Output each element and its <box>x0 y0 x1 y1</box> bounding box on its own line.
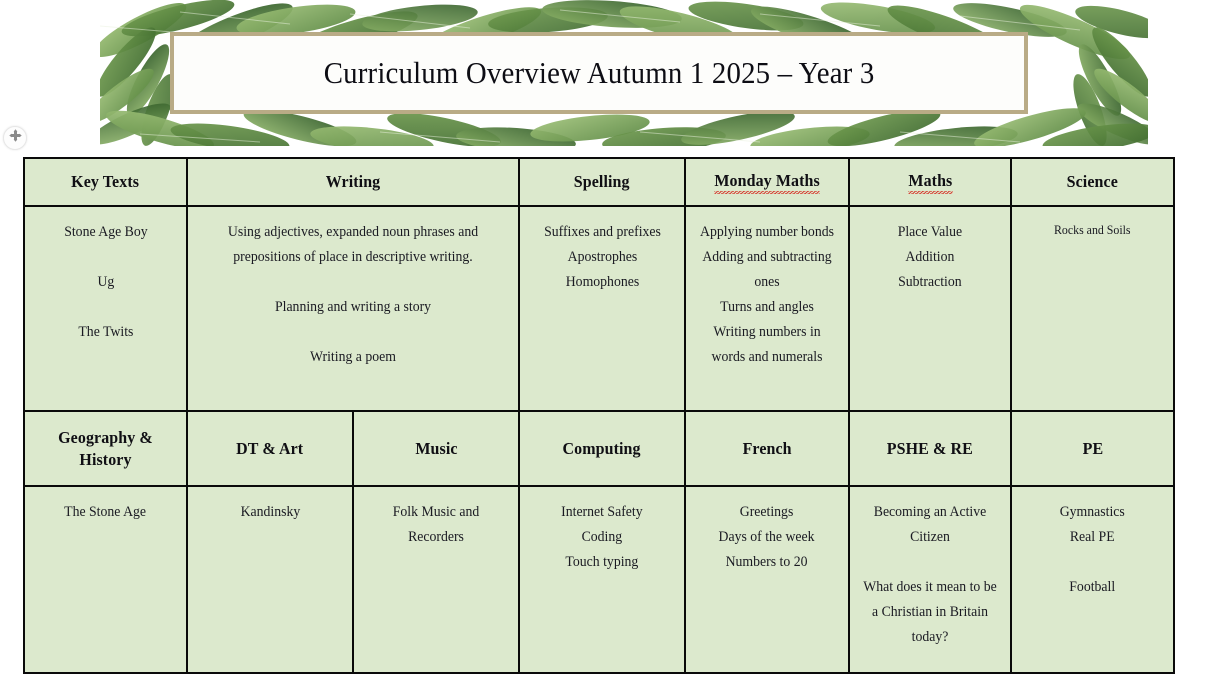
header-cell-spelling: Spelling <box>519 158 685 206</box>
header-cell-dt-art: DT & Art <box>187 411 353 486</box>
cell-content: Becoming an Active Citizen What does it … <box>862 500 999 650</box>
banner: Curriculum Overview Autumn 1 2025 – Year… <box>100 0 1148 146</box>
header-label: Science <box>1067 171 1118 192</box>
cell-pe: Gymnastics Real PE Football <box>1011 486 1174 673</box>
header-cell-maths: Maths <box>849 158 1011 206</box>
cell-computing: Internet Safety Coding Touch typing <box>519 486 685 673</box>
header-label: Monday Maths <box>714 170 819 194</box>
move-handle[interactable] <box>3 126 27 150</box>
cell-content: Kandinsky <box>240 500 300 525</box>
header-label: Geography & History <box>33 427 179 469</box>
page-title: Curriculum Overview Autumn 1 2025 – Year… <box>324 55 875 91</box>
header-label: DT & Art <box>236 438 303 459</box>
move-cross-icon <box>9 129 22 147</box>
table-body-row-1: Stone Age Boy Ug The Twits Using adjecti… <box>24 206 1174 411</box>
cell-content: Rocks and Soils <box>1054 220 1131 241</box>
header-cell-science: Science <box>1011 158 1174 206</box>
cell-content: The Stone Age <box>65 500 147 525</box>
cell-geography-history: The Stone Age <box>24 486 187 673</box>
table-header-row-1: Key Texts Writing Spelling Monday Maths … <box>24 158 1174 206</box>
header-label: Key Texts <box>72 171 140 192</box>
cell-content: Internet Safety Coding Touch typing <box>561 500 642 575</box>
header-cell-music: Music <box>353 411 519 486</box>
cell-french: Greetings Days of the week Numbers to 20 <box>685 486 849 673</box>
header-cell-pshe-re: PSHE & RE <box>849 411 1011 486</box>
header-label: Music <box>415 438 457 459</box>
cell-content: Greetings Days of the week Numbers to 20 <box>719 500 815 575</box>
cell-pshe-re: Becoming an Active Citizen What does it … <box>849 486 1011 673</box>
header-cell-french: French <box>685 411 849 486</box>
cell-key-texts: Stone Age Boy Ug The Twits <box>24 206 187 411</box>
cell-content: Place Value Addition Subtraction <box>898 220 962 295</box>
header-label: French <box>742 438 791 459</box>
header-cell-pe: PE <box>1011 411 1174 486</box>
header-label: Computing <box>563 438 641 459</box>
cell-science: Rocks and Soils <box>1011 206 1174 411</box>
cell-writing: Using adjectives, expanded noun phrases … <box>187 206 519 411</box>
table-body-row-2: The Stone Age Kandinsky Folk Music and R… <box>24 486 1174 673</box>
curriculum-overview-table: Key Texts Writing Spelling Monday Maths … <box>23 157 1175 674</box>
cell-content: Stone Age Boy Ug The Twits <box>64 220 147 345</box>
header-cell-computing: Computing <box>519 411 685 486</box>
cell-content: Folk Music and Recorders <box>366 500 507 550</box>
cell-content: Suffixes and prefixes Apostrophes Homoph… <box>544 220 661 295</box>
cell-content: Gymnastics Real PE Football <box>1060 500 1125 600</box>
cell-spelling: Suffixes and prefixes Apostrophes Homoph… <box>519 206 685 411</box>
header-label: PSHE & RE <box>887 438 973 459</box>
header-label: PE <box>1082 438 1103 459</box>
title-panel: Curriculum Overview Autumn 1 2025 – Year… <box>170 32 1028 114</box>
header-cell-key-texts: Key Texts <box>24 158 187 206</box>
cell-dt-art: Kandinsky <box>187 486 353 673</box>
table-header-row-2: Geography & History DT & Art Music Compu… <box>24 411 1174 486</box>
cell-maths: Place Value Addition Subtraction <box>849 206 1011 411</box>
cell-content: Using adjectives, expanded noun phrases … <box>204 220 502 370</box>
header-cell-geography-history: Geography & History <box>24 411 187 486</box>
header-label: Writing <box>326 171 381 192</box>
header-cell-monday-maths: Monday Maths <box>685 158 849 206</box>
header-cell-writing: Writing <box>187 158 519 206</box>
cell-music: Folk Music and Recorders <box>353 486 519 673</box>
header-label: Spelling <box>574 171 630 192</box>
cell-monday-maths: Applying number bonds Adding and subtrac… <box>685 206 849 411</box>
header-label: Maths <box>908 170 952 194</box>
cell-content: Applying number bonds Adding and subtrac… <box>698 220 837 370</box>
